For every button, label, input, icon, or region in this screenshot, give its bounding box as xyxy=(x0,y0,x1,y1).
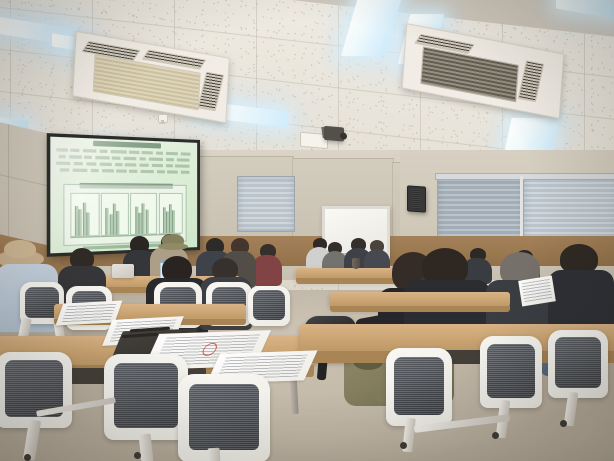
chair-leg xyxy=(208,448,221,461)
blind-divider xyxy=(520,176,523,242)
chair-mid-5[interactable] xyxy=(248,286,290,326)
attendee-red-plaid xyxy=(252,244,282,286)
chair-caster xyxy=(560,420,567,427)
blind-rail xyxy=(435,173,614,180)
chair-caster xyxy=(400,442,407,449)
chair-front-2[interactable] xyxy=(104,354,188,440)
light-panel-9 xyxy=(556,0,614,19)
chair-front-5[interactable] xyxy=(480,336,542,408)
chair-caster xyxy=(24,454,31,461)
chair-front-1[interactable] xyxy=(0,352,72,428)
coffee-cup[interactable] xyxy=(352,258,360,269)
chair-front-4[interactable] xyxy=(386,348,452,426)
chair-front-3[interactable] xyxy=(178,374,270,461)
projector-lens xyxy=(340,132,347,140)
sprinkler-head xyxy=(158,114,168,123)
ceiling-projector xyxy=(300,122,352,153)
window-blind-right[interactable] xyxy=(523,176,614,244)
meeting-room-photo xyxy=(0,0,614,461)
light-panel-8 xyxy=(504,118,559,152)
held-document[interactable] xyxy=(518,276,556,307)
chair-front-6[interactable] xyxy=(548,330,608,398)
table-mid-right xyxy=(330,292,510,307)
wall-speaker xyxy=(407,185,426,212)
window-blind-center[interactable] xyxy=(437,178,524,244)
window-blind-left[interactable] xyxy=(237,176,295,232)
chair-caster xyxy=(492,432,499,439)
laptop[interactable] xyxy=(112,264,134,278)
chair-caster xyxy=(134,452,141,459)
